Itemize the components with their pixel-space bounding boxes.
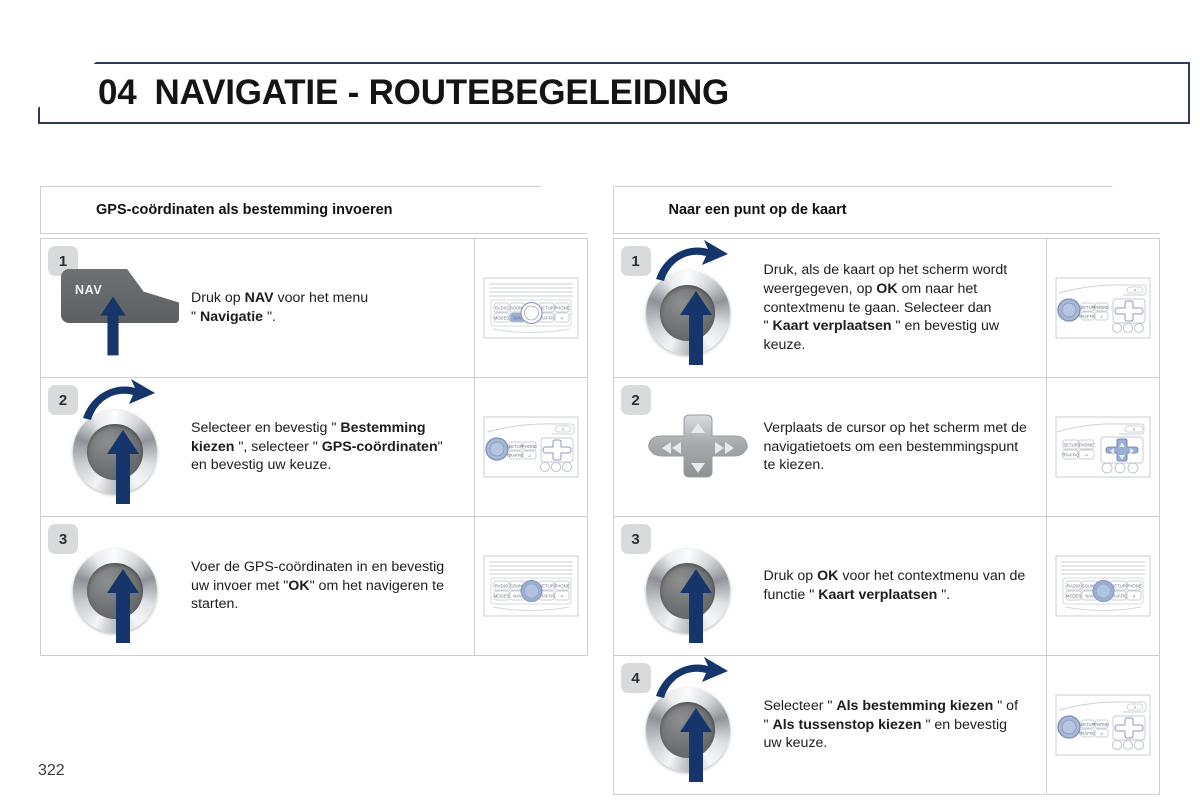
press-arrow-icon — [679, 706, 713, 784]
step-content: 1 Druk, als de kaart op het scherm wordt… — [614, 239, 1047, 377]
step-instruction-text: Druk, als de kaart op het scherm wordt w… — [760, 261, 1035, 355]
svg-text:PHONE: PHONE — [1079, 443, 1094, 448]
svg-text:SETUP: SETUP — [1064, 443, 1078, 448]
section-title: GPS-coördinaten als bestemming invoeren — [96, 186, 393, 234]
svg-text:RADIO: RADIO — [494, 584, 508, 589]
svg-text:PHONE: PHONE — [1094, 722, 1109, 727]
svg-text:RADIO: RADIO — [494, 306, 508, 311]
svg-text:NAV: NAV — [513, 316, 522, 321]
svg-text:TRAFFIC: TRAFFIC — [1079, 314, 1097, 319]
step-list: 1 Druk, als de kaart op het scherm wordt… — [613, 238, 1161, 795]
nav-key-graphic: NAV — [61, 269, 183, 355]
rotate-arrow-icon — [81, 378, 157, 424]
svg-text:PHONE: PHONE — [1094, 305, 1109, 310]
step-instruction-text: Druk op NAV voor het menu" Navigatie ". — [187, 289, 374, 327]
section-header: GPS-coördinaten als bestemming invoeren — [40, 186, 588, 234]
page-number: 322 — [38, 762, 65, 780]
svg-text:PHONE: PHONE — [1127, 584, 1142, 589]
step-row: 1 NAV Druk op NAV voor het menu" Navigat… — [41, 239, 587, 378]
svg-text:PHONE: PHONE — [522, 444, 537, 449]
svg-text:↲: ↲ — [1100, 731, 1104, 736]
step-row: 2 Verplaats de cursor op het scherm met … — [614, 378, 1160, 517]
section-title: Naar een punt op de kaart — [669, 186, 847, 234]
head-unit-thumbnail: RADIO SOUND SETUP PHONE MODES NAV TRAFFI… — [1046, 517, 1159, 655]
step-content: 1 NAV Druk op NAV voor het menu" Navigat… — [41, 239, 474, 377]
press-arrow-icon — [679, 567, 713, 645]
svg-text:NAV: NAV — [1085, 594, 1094, 599]
svg-text:TRAFFIC: TRAFFIC — [1079, 731, 1097, 736]
svg-text:↲: ↲ — [560, 316, 564, 321]
rotate-arrow-icon — [654, 239, 730, 285]
chapter-title-text: NAVIGATIE - ROUTEBEGELEIDING — [155, 73, 730, 113]
radio-panel-ok-highlight: RADIO SOUND SETUP PHONE MODES NAV TRAFFI… — [1055, 555, 1151, 617]
step-instruction-text: Selecteer " Als bestemming kiezen " of" … — [760, 697, 1035, 754]
step-content: 4 Selecteer " Als bestemming kiezen " of… — [614, 656, 1047, 794]
press-arrow-icon — [106, 428, 140, 506]
page-title: 04 NAVIGATIE - ROUTEBEGELEIDING — [98, 62, 729, 124]
svg-text:PHONE: PHONE — [554, 584, 569, 589]
rotate-arrow-icon — [654, 656, 730, 702]
svg-text:PHONE: PHONE — [554, 306, 569, 311]
radio-panel-zoom-dpad: A SETUP PHONE TRAFFIC ↲ — [483, 416, 579, 478]
svg-text:TRAFFIC: TRAFFIC — [506, 453, 524, 458]
svg-text:NAV: NAV — [513, 594, 522, 599]
step-row: 2 Selecteer en bevestig " Bestemming kie… — [41, 378, 587, 517]
section-header: Naar een punt op de kaart — [613, 186, 1161, 234]
content-column-2: Naar een punt op de kaart 1 Druk, als de… — [613, 186, 1161, 795]
step-row: 4 Selecteer " Als bestemming kiezen " of… — [614, 656, 1160, 795]
svg-text:MODES: MODES — [493, 594, 509, 599]
step-row: 3 Voer de GPS-coördinaten in en bevestig… — [41, 517, 587, 656]
radio-panel-nav-highlight: RADIO SOUND SETUP PHONE MODES NAV TRAFFI… — [483, 277, 579, 339]
head-unit-thumbnail: A SETUP PHONE TRAFFIC ↲ — [1046, 239, 1159, 377]
radio-panel-zoom-dpad: A SETUP PHONE TRAFFIC ↲ — [1055, 694, 1151, 756]
step-illustration — [632, 388, 760, 506]
step-content: 2 Selecteer en bevestig " Bestemming kie… — [41, 378, 474, 516]
press-arrow-icon — [97, 295, 129, 357]
step-content: 3 Voer de GPS-coördinaten in en bevestig… — [41, 517, 474, 655]
step-illustration — [632, 666, 760, 784]
svg-text:↲: ↲ — [560, 594, 564, 599]
svg-text:MODES: MODES — [1066, 594, 1082, 599]
svg-text:↲: ↲ — [527, 453, 531, 458]
step-instruction-text: Druk op OK voor het contextmenu van de f… — [760, 567, 1035, 605]
svg-text:↲: ↲ — [1100, 314, 1104, 319]
step-illustration — [59, 388, 187, 506]
step-content: 3 Druk op OK voor het contextmenu van de… — [614, 517, 1047, 655]
svg-text:MODES: MODES — [493, 316, 509, 321]
svg-text:SETUP: SETUP — [1081, 722, 1095, 727]
step-illustration: NAV — [59, 249, 187, 367]
svg-text:TRAFFIC: TRAFFIC — [1062, 453, 1080, 458]
head-unit-thumbnail: RADIO SOUND SETUP PHONE MODES NAV TRAFFI… — [474, 517, 587, 655]
svg-text:SETUP: SETUP — [508, 444, 522, 449]
svg-text:↲: ↲ — [1085, 453, 1089, 458]
content-columns: GPS-coördinaten als bestemming invoeren … — [40, 186, 1160, 795]
step-content: 2 Verplaats de cursor op het scherm met … — [614, 378, 1047, 516]
chapter-number: 04 — [98, 73, 137, 113]
chapter-header-banner: 04 NAVIGATIE - ROUTEBEGELEIDING — [38, 62, 1190, 124]
press-arrow-icon — [106, 567, 140, 645]
head-unit-thumbnail: A SETUP PHONE TRAFFIC ↲ — [1046, 378, 1159, 516]
press-arrow-icon — [679, 289, 713, 367]
radio-panel-ok-highlight: RADIO SOUND SETUP PHONE MODES NAV TRAFFI… — [483, 555, 579, 617]
svg-text:SETUP: SETUP — [1081, 305, 1095, 310]
step-row: 3 Druk op OK voor het contextmenu van de… — [614, 517, 1160, 656]
head-unit-thumbnail: A SETUP PHONE TRAFFIC ↲ — [1046, 656, 1159, 794]
step-instruction-text: Voer de GPS-coördinaten in en bevestig u… — [187, 558, 462, 615]
step-illustration — [632, 249, 760, 367]
svg-text:↲: ↲ — [1132, 594, 1136, 599]
radio-panel-dpad-highlight: A SETUP PHONE TRAFFIC ↲ — [1055, 416, 1151, 478]
dpad-graphic — [640, 414, 756, 482]
step-instruction-text: Verplaats de cursor op het scherm met de… — [760, 419, 1035, 476]
step-row: 1 Druk, als de kaart op het scherm wordt… — [614, 239, 1160, 378]
head-unit-thumbnail: RADIO SOUND SETUP PHONE MODES NAV TRAFFI… — [474, 239, 587, 377]
step-list: 1 NAV Druk op NAV voor het menu" Navigat… — [40, 238, 588, 656]
step-illustration — [59, 527, 187, 645]
svg-text:RADIO: RADIO — [1067, 584, 1081, 589]
step-instruction-text: Selecteer en bevestig " Bestemming kieze… — [187, 419, 462, 476]
step-illustration — [632, 527, 760, 645]
content-column-1: GPS-coördinaten als bestemming invoeren … — [40, 186, 588, 795]
radio-panel-zoom-dpad: A SETUP PHONE TRAFFIC ↲ — [1055, 277, 1151, 339]
head-unit-thumbnail: A SETUP PHONE TRAFFIC ↲ — [474, 378, 587, 516]
